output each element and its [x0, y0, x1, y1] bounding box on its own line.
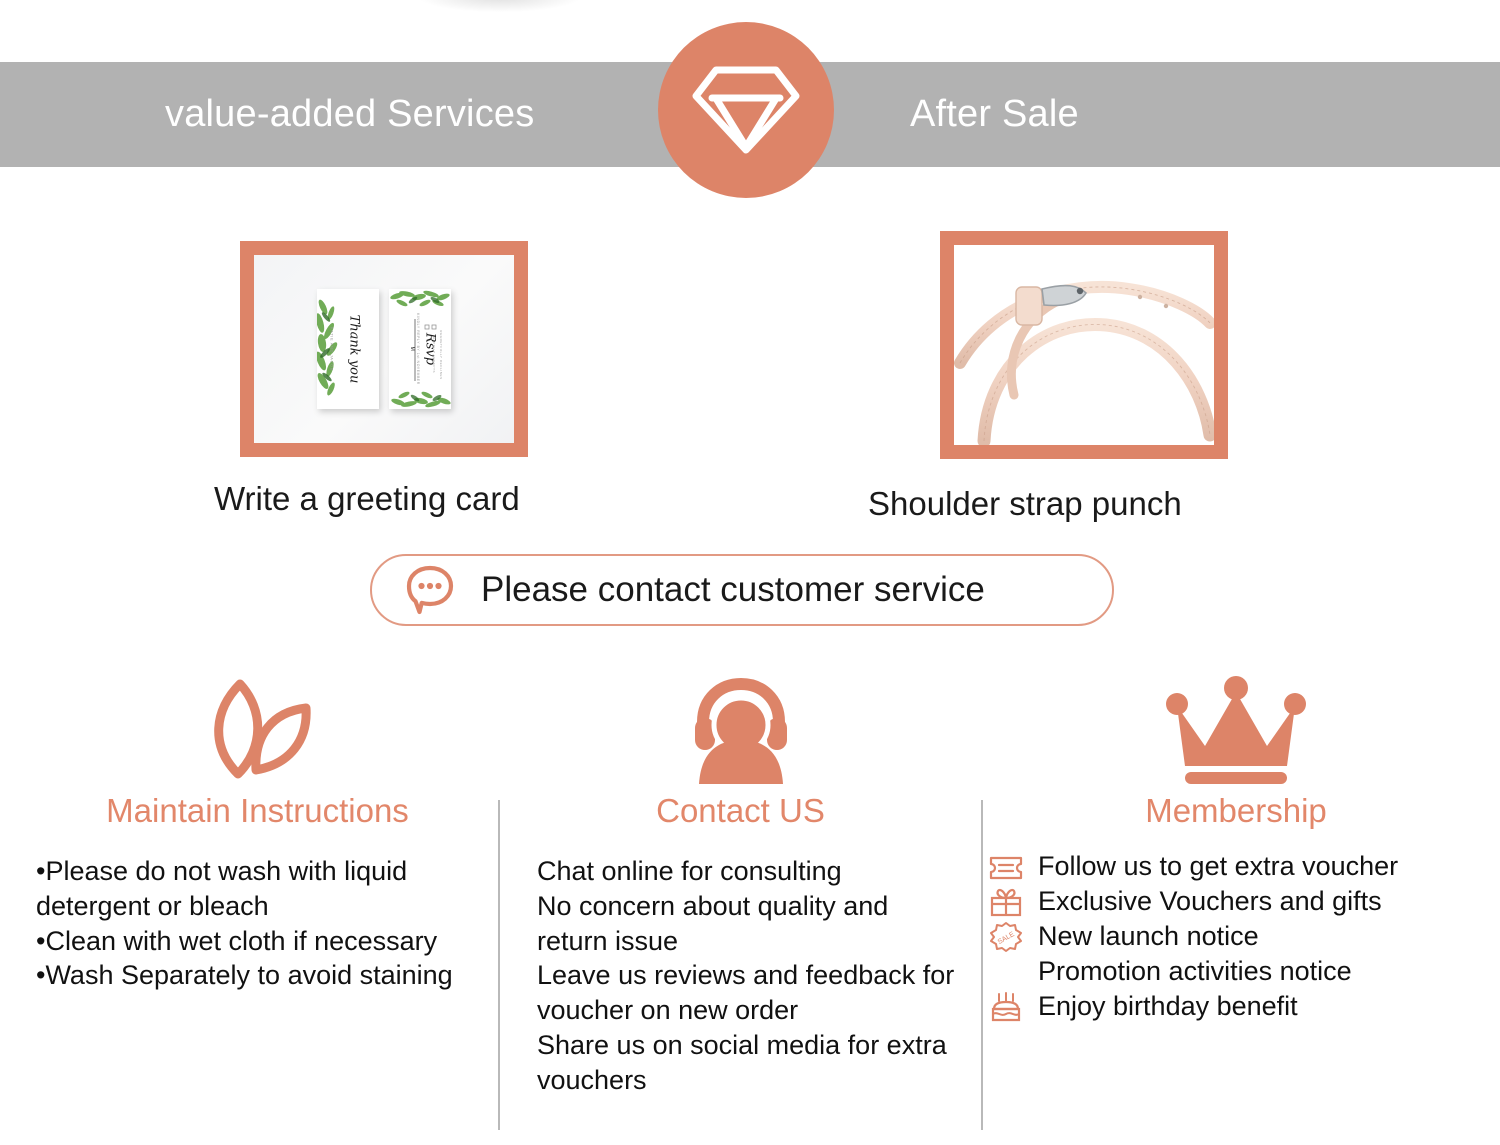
rsvp-card-option-decline: REGRETFULLY DECLINES [439, 330, 443, 379]
column-title-contact-us: Contact US [503, 792, 978, 830]
maintain-instructions-text: •Please do not wash with liquid detergen… [20, 854, 495, 993]
maintain-line: detergent or bleach [36, 889, 495, 924]
crown-icon [986, 668, 1486, 788]
shoulder-strap-photo [954, 245, 1214, 445]
column-maintain-instructions: Maintain Instructions •Please do not was… [20, 668, 495, 993]
headset-support-icon [503, 668, 978, 788]
ticket-voucher-icon [986, 850, 1026, 884]
shoulder-strap-caption: Shoulder strap punch [868, 485, 1182, 523]
rsvp-card: Rsvp KINDLY REPLY BY 1st NOVEMBER M HAPP… [389, 289, 451, 409]
column-membership: Membership Follow us to get extra vouche… [986, 668, 1486, 1025]
gift-box-icon [986, 885, 1026, 919]
greeting-card-photo: Thank you KATIE AND JACOB [254, 255, 514, 443]
membership-perk-label: Follow us to get extra voucher [1038, 850, 1398, 884]
thank-you-card-title: Thank you [347, 315, 362, 384]
birthday-cake-icon [986, 990, 1026, 1024]
membership-perk-item: Follow us to get extra voucher [986, 850, 1486, 884]
banner-label-right: After Sale [910, 62, 1079, 167]
contact-customer-service-label: Please contact customer service [481, 570, 985, 610]
membership-perk-item: SALE New launch notice [986, 920, 1486, 954]
sale-badge-icon: SALE [986, 920, 1026, 954]
contact-us-text: Chat online for consulting No concern ab… [503, 854, 978, 1098]
banner-label-left: value-added Services [165, 62, 534, 167]
page-top-artifact [420, 0, 580, 12]
membership-perk-label: Enjoy birthday benefit [1038, 990, 1298, 1024]
column-title-maintain-instructions: Maintain Instructions [20, 792, 495, 830]
greeting-card-photo-frame: Thank you KATIE AND JACOB [240, 241, 528, 457]
svg-text:SALE: SALE [997, 931, 1016, 946]
membership-perk-item: Exclusive Vouchers and gifts [986, 885, 1486, 919]
membership-perks-list: Follow us to get extra voucher Exclusive… [986, 850, 1486, 1024]
column-title-membership: Membership [986, 792, 1486, 830]
leaves-icon [20, 668, 495, 788]
contact-line: Share us on social media for extra [537, 1028, 978, 1063]
info-columns: Maintain Instructions •Please do not was… [0, 668, 1500, 1138]
membership-perk-label: Exclusive Vouchers and gifts [1038, 885, 1382, 919]
brand-logo-badge [658, 22, 834, 198]
leather-strap-illustration [954, 245, 1214, 445]
membership-perk-item: Promotion activities notice [986, 955, 1486, 989]
shoulder-strap-photo-frame [940, 231, 1228, 459]
contact-line: Leave us reviews and feedback for [537, 958, 978, 993]
contact-line: Chat online for consulting [537, 854, 978, 889]
diamond-v-logo-icon [686, 52, 806, 169]
contact-line: No concern about quality and [537, 889, 978, 924]
maintain-line: •Clean with wet cloth if necessary [36, 924, 495, 959]
contact-line: voucher on new order [537, 993, 978, 1028]
greeting-card-caption: Write a greeting card [214, 480, 520, 518]
contact-line: vouchers [537, 1063, 978, 1098]
maintain-line: •Please do not wash with liquid [36, 854, 495, 889]
rsvp-card-option-accept: HAPPILY ACCEPTS [432, 337, 436, 373]
membership-perk-label: Promotion activities notice [1038, 955, 1352, 989]
thank-you-card-subtitle: KATIE AND JACOB [330, 327, 335, 371]
maintain-line: •Wash Separately to avoid staining [36, 958, 495, 993]
chat-bubble-icon [405, 564, 455, 616]
contact-line: return issue [537, 924, 978, 959]
contact-customer-service-button[interactable]: Please contact customer service [370, 554, 1114, 626]
membership-perk-item: Enjoy birthday benefit [986, 990, 1486, 1024]
thank-you-card: Thank you KATIE AND JACOB [317, 289, 379, 409]
column-divider-1 [498, 800, 500, 1130]
column-divider-2 [981, 800, 983, 1130]
membership-perk-label: New launch notice [1038, 920, 1259, 954]
column-contact-us: Contact US Chat online for consulting No… [503, 668, 978, 1098]
